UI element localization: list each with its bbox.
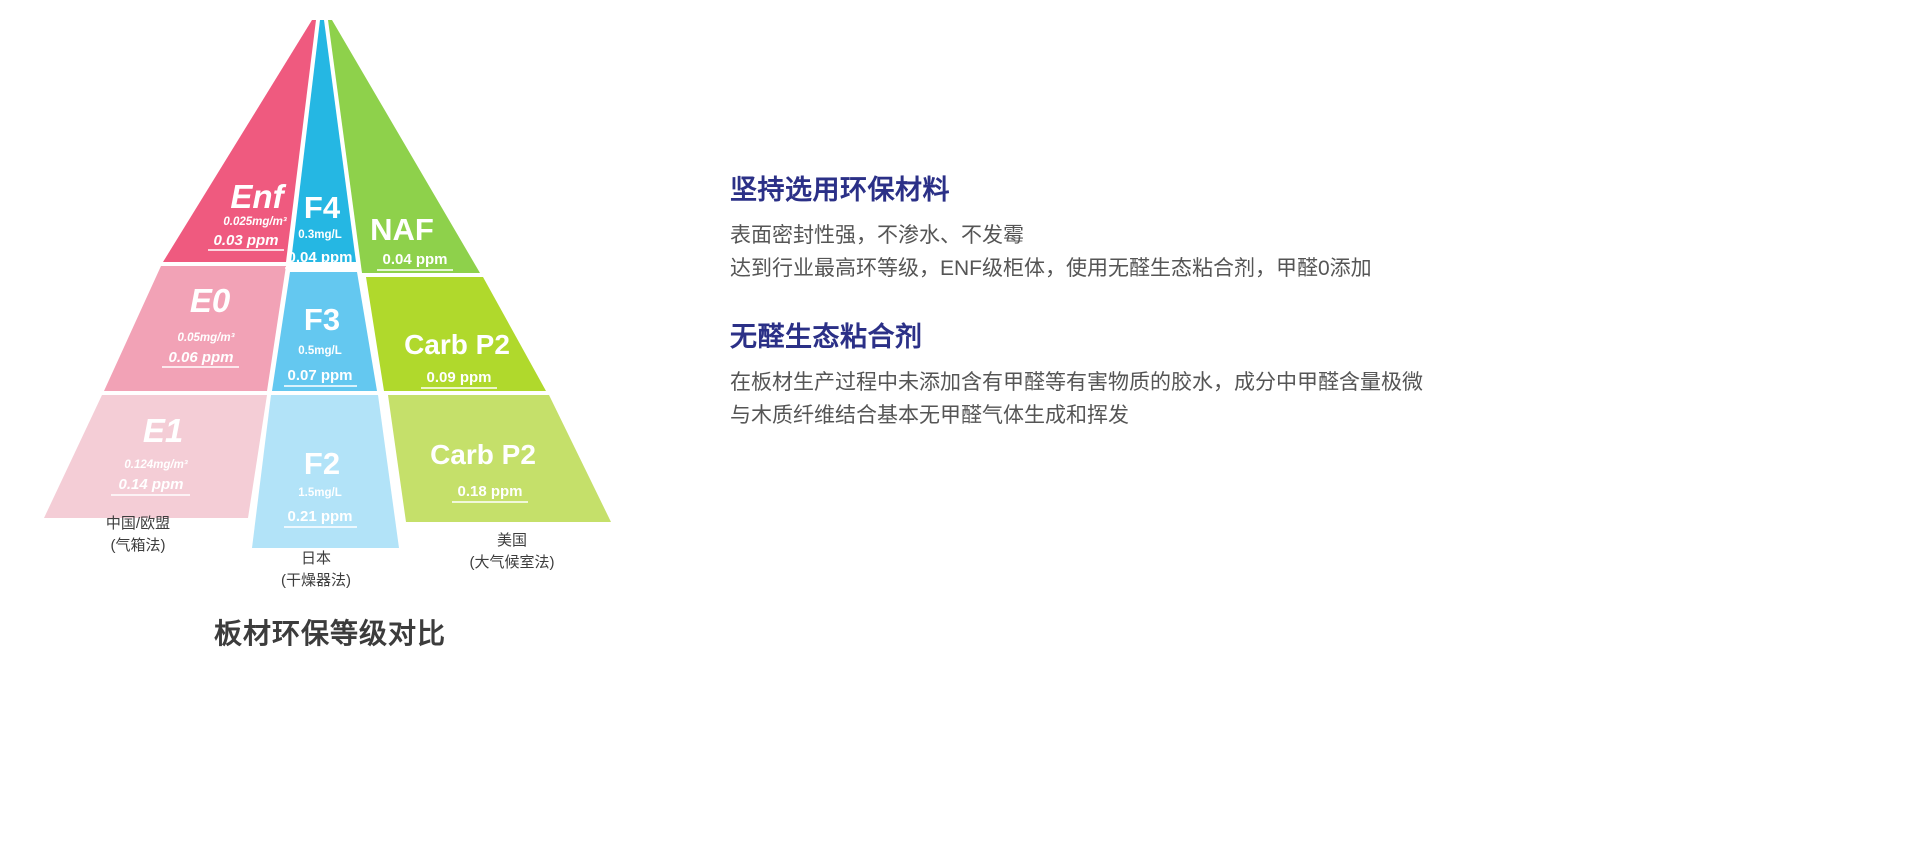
segment-e0-ppm: 0.06 ppm <box>168 349 233 366</box>
segment-enf: Enf 0.025mg/m³ 0.03 ppm <box>163 20 316 262</box>
caption-japan-region: 日本 <box>256 548 376 570</box>
caption-usa-region: 美国 <box>447 530 577 552</box>
segment-f4-concentration: 0.3mg/L <box>298 229 341 241</box>
pyramid-diagram: Enf 0.025mg/m³ 0.03 ppm E0 0.05mg/m³ 0.0… <box>0 0 700 700</box>
caption-china: 中国/欧盟 (气箱法) <box>78 513 198 557</box>
description-block-1: 坚持选用环保材料 表面密封性强，不渗水、不发霉 达到行业最高环等级，ENF级柜体… <box>730 168 1860 285</box>
block-1-heading: 坚持选用环保材料 <box>730 168 1860 207</box>
segment-f3-grade: F3 <box>304 302 340 337</box>
block-2-heading: 无醛生态粘合剂 <box>730 315 1860 354</box>
segment-f4-grade: F4 <box>304 190 341 225</box>
chart-title: 板材环保等级对比 <box>0 612 660 652</box>
block-1-line-2: 达到行业最高环等级，ENF级柜体，使用无醛生态粘合剂，甲醛0添加 <box>730 252 1860 285</box>
caption-japan-method: (干燥器法) <box>256 570 376 592</box>
segment-e1-ppm: 0.14 ppm <box>118 476 183 493</box>
segment-f2: F2 1.5mg/L 0.21 ppm <box>252 395 399 548</box>
segment-naf-ppm: 0.04 ppm <box>382 251 447 268</box>
segment-e0-grade: E0 <box>190 282 231 319</box>
segment-carbp2-lower: Carb P2 0.18 ppm <box>388 395 611 522</box>
description-panel: 坚持选用环保材料 表面密封性强，不渗水、不发霉 达到行业最高环等级，ENF级柜体… <box>730 168 1860 462</box>
caption-usa-method: (大气候室法) <box>447 552 577 574</box>
segment-f3: F3 0.5mg/L 0.07 ppm <box>272 272 377 391</box>
caption-china-method: (气箱法) <box>78 535 198 557</box>
segment-f4-ppm: 0.04 ppm <box>287 249 352 266</box>
segment-e0-concentration: 0.05mg/m³ <box>178 332 236 344</box>
segment-enf-ppm: 0.03 ppm <box>213 232 278 249</box>
segment-carbp2-lower-ppm: 0.18 ppm <box>457 483 522 500</box>
block-2-line-1: 在板材生产过程中未添加含有甲醛等有害物质的胶水，成分中甲醛含量极微 <box>730 366 1860 399</box>
segment-f2-concentration: 1.5mg/L <box>298 487 341 499</box>
description-block-2: 无醛生态粘合剂 在板材生产过程中未添加含有甲醛等有害物质的胶水，成分中甲醛含量极… <box>730 315 1860 432</box>
pyramid-chart: Enf 0.025mg/m³ 0.03 ppm E0 0.05mg/m³ 0.0… <box>0 0 700 842</box>
segment-f3-ppm: 0.07 ppm <box>287 367 352 384</box>
block-2-line-2: 与木质纤维结合基本无甲醛气体生成和挥发 <box>730 399 1860 432</box>
segment-carbp2-upper-grade: Carb P2 <box>404 329 510 360</box>
segment-naf-grade: NAF <box>370 212 434 247</box>
segment-carbp2-upper: Carb P2 0.09 ppm <box>366 277 546 391</box>
segment-e1: E1 0.124mg/m³ 0.14 ppm <box>44 395 267 518</box>
segment-enf-grade: Enf <box>230 178 286 215</box>
segment-e1-grade: E1 <box>143 412 183 449</box>
caption-usa: 美国 (大气候室法) <box>447 530 577 574</box>
block-1-line-1: 表面密封性强，不渗水、不发霉 <box>730 219 1860 252</box>
segment-f3-concentration: 0.5mg/L <box>298 345 341 357</box>
caption-japan: 日本 (干燥器法) <box>256 548 376 592</box>
segment-carbp2-upper-ppm: 0.09 ppm <box>426 369 491 386</box>
segment-enf-concentration: 0.025mg/m³ <box>223 216 287 228</box>
segment-e1-concentration: 0.124mg/m³ <box>124 459 188 471</box>
segment-f2-ppm: 0.21 ppm <box>287 508 352 525</box>
segment-e0: E0 0.05mg/m³ 0.06 ppm <box>104 266 286 391</box>
segment-carbp2-lower-grade: Carb P2 <box>430 439 536 470</box>
segment-f2-grade: F2 <box>304 446 340 481</box>
caption-china-region: 中国/欧盟 <box>78 513 198 535</box>
